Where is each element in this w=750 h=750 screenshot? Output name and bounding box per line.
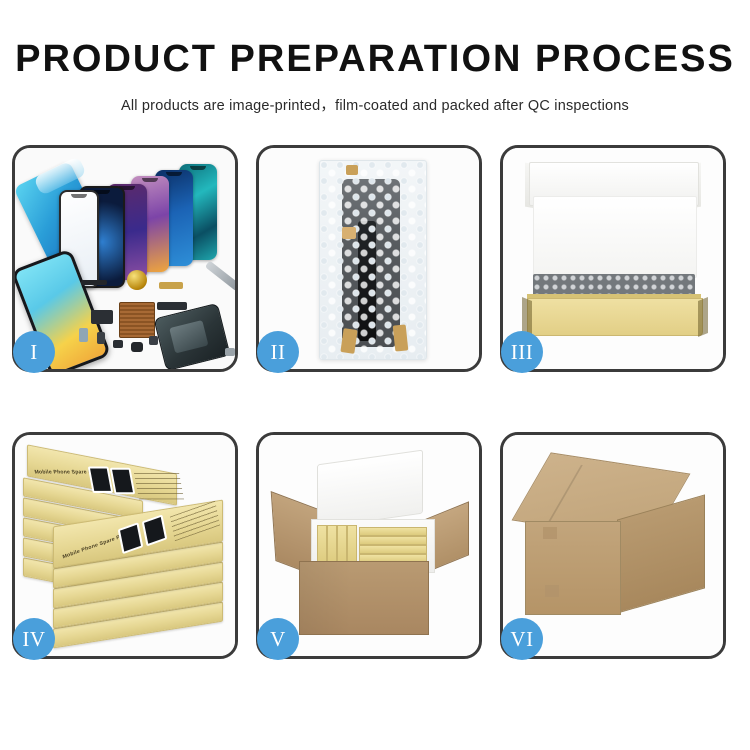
- carton-tape-1: [543, 527, 557, 539]
- coil-part: [127, 270, 147, 290]
- spare-parts-cluster: [75, 266, 235, 369]
- step-badge-1: I: [13, 331, 55, 373]
- step-badge-3: III: [501, 331, 543, 373]
- step-badge-6: VI: [501, 618, 543, 660]
- foam-sheet: [533, 196, 697, 278]
- copper-grid-chip: [119, 302, 155, 338]
- step-badge-5: V: [257, 618, 299, 660]
- process-step-4: Mobile Phone Spare Parts Mobile Phone Sp…: [12, 432, 238, 659]
- box-label-phone-image-c: [118, 522, 144, 554]
- packed-box-2: [327, 525, 337, 565]
- flex-cable-4: [157, 302, 187, 310]
- box-stack: Mobile Phone Spare Parts Mobile Phone Sp…: [21, 451, 231, 641]
- carton-tape-2: [545, 585, 559, 597]
- box-label-phone-image-b: [110, 468, 136, 494]
- foam-lid: [317, 450, 423, 529]
- bubble-texture-shadow: [320, 161, 426, 359]
- tape-tab-2: [342, 227, 356, 239]
- process-step-5: V: [256, 432, 482, 659]
- small-part-2: [113, 340, 123, 348]
- process-step-1: I: [12, 145, 238, 372]
- page-subtitle: All products are image-printed，film-coat…: [0, 94, 750, 115]
- tape-tab-1: [346, 165, 358, 175]
- header: PRODUCT PREPARATION PROCESS All products…: [0, 0, 750, 115]
- flex-cable-3: [159, 282, 183, 289]
- small-part-1: [97, 332, 105, 344]
- flex-cable-1: [81, 280, 107, 285]
- process-step-3: III: [500, 145, 726, 372]
- tape-tab-4: [393, 324, 409, 351]
- packed-box-7: [359, 545, 427, 554]
- packed-box-6: [359, 536, 427, 545]
- flex-cable-2: [91, 310, 113, 324]
- screwdriver-icon: [205, 261, 235, 292]
- box-label-phone-image-d: [142, 514, 168, 546]
- page-title: PRODUCT PREPARATION PROCESS: [0, 40, 750, 78]
- sealed-carton-front: [525, 521, 621, 615]
- step-badge-4: IV: [13, 618, 55, 660]
- packed-box-3: [337, 525, 347, 565]
- small-part-6: [225, 348, 235, 356]
- step-badge-2: II: [257, 331, 299, 373]
- carton-body: [299, 561, 429, 635]
- phone-chassis: [153, 303, 230, 369]
- yellow-box-base: [527, 298, 703, 336]
- bubble-wrap-bag: [319, 160, 427, 360]
- box-label-spec-lines-top: [134, 473, 184, 499]
- small-part-3: [131, 342, 143, 352]
- product-preparation-infographic: PRODUCT PREPARATION PROCESS All products…: [0, 0, 750, 750]
- process-step-2: II: [256, 145, 482, 372]
- small-part-4: [149, 336, 158, 345]
- packed-box-1: [317, 525, 327, 565]
- box-label-spec-lines-front: [170, 501, 220, 542]
- packed-box-4: [347, 525, 357, 565]
- process-step-grid: I II: [12, 145, 738, 690]
- process-step-6: VI: [500, 432, 726, 659]
- small-part-5: [79, 328, 88, 342]
- packed-box-5: [359, 527, 427, 536]
